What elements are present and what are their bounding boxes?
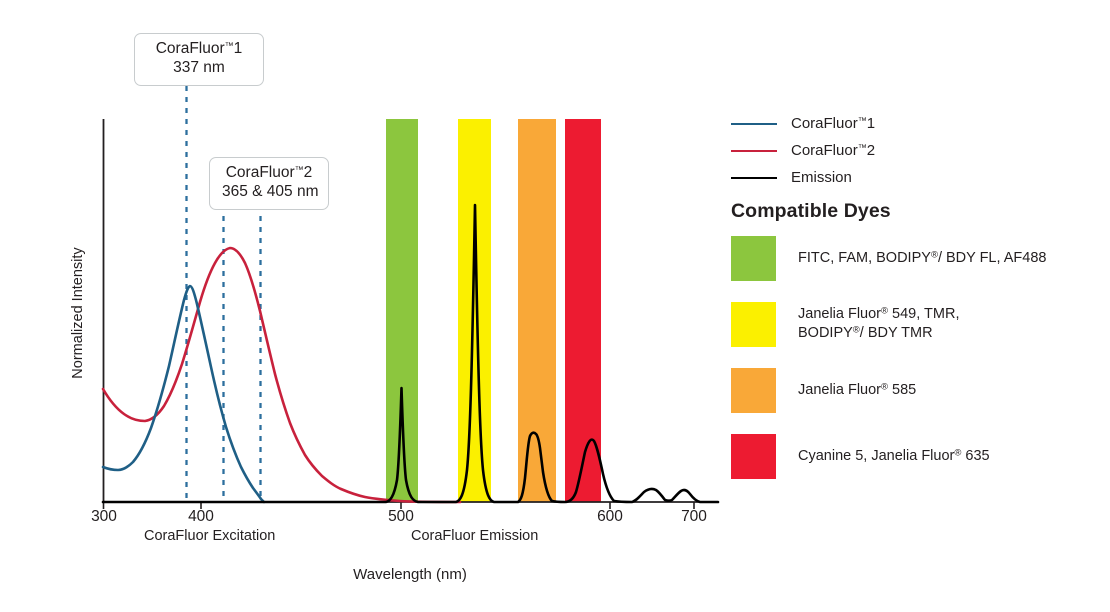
legend-label-emission: Emission: [791, 169, 852, 186]
x-tick-label-600: 600: [580, 508, 640, 526]
callout-2-line2: 365 & 405 nm: [222, 183, 316, 202]
legend-label-corafluor2: CoraFluor™2: [791, 142, 875, 159]
dye-band-yellow: [458, 119, 491, 502]
dye-color-swatch-yellow: [731, 302, 776, 347]
trademark-symbol: ™: [225, 40, 234, 50]
registered-symbol: ®: [853, 325, 860, 336]
dye-label-green: FITC, FAM, BODIPY®/ BDY FL, AF488: [798, 249, 1046, 268]
annotation-markers: [187, 86, 261, 502]
callout-1-line1: CoraFluor™1: [147, 40, 251, 59]
annotation-callout-corafluor2: CoraFluor™2 365 & 405 nm: [209, 157, 329, 210]
dye-label-yellow: Janelia Fluor® 549, TMR, BODIPY®/ BDY TM…: [798, 305, 959, 342]
x-tick-label-300: 300: [74, 508, 134, 526]
legend-line-swatch-corafluor1: [731, 123, 777, 125]
fluorescence-spectra-figure: CoraFluor™1 337 nm CoraFluor™2 365 & 405…: [0, 0, 1110, 612]
legend-line-swatch-emission: [731, 177, 777, 179]
dye-item-red: Cyanine 5, Janelia Fluor® 635: [731, 431, 1101, 481]
x-tick-label-700: 700: [664, 508, 724, 526]
x-tick-label-500: 500: [371, 508, 431, 526]
chart-legend: CoraFluor™1 CoraFluor™2 Emission: [731, 110, 1091, 191]
dye-band-green: [386, 119, 418, 502]
dye-label-orange: Janelia Fluor® 585: [798, 381, 916, 400]
dye-item-orange: Janelia Fluor® 585: [731, 365, 1101, 415]
dye-label-red: Cyanine 5, Janelia Fluor® 635: [798, 447, 990, 466]
compatible-dyes-list: FITC, FAM, BODIPY®/ BDY FL, AF488 Janeli…: [731, 233, 1101, 497]
dye-color-swatch-orange: [731, 368, 776, 413]
compatible-dyes-title: Compatible Dyes: [731, 200, 891, 223]
x-axis-title: Wavelength (nm): [0, 566, 820, 583]
x-tick-label-400: 400: [171, 508, 231, 526]
dye-item-yellow: Janelia Fluor® 549, TMR, BODIPY®/ BDY TM…: [731, 299, 1101, 349]
registered-symbol: ®: [931, 249, 938, 260]
dye-color-swatch-red: [731, 434, 776, 479]
callout-2-line1: CoraFluor™2: [222, 164, 316, 183]
dye-band-group: [386, 119, 601, 502]
region-label-emission: CoraFluor Emission: [411, 528, 538, 544]
y-axis-title: Normalized Intensity: [70, 213, 86, 413]
dye-item-green: FITC, FAM, BODIPY®/ BDY FL, AF488: [731, 233, 1101, 283]
legend-label-corafluor1: CoraFluor™1: [791, 115, 875, 132]
legend-item-corafluor1: CoraFluor™1: [731, 110, 1091, 137]
callout-1-line2: 337 nm: [147, 59, 251, 78]
region-label-excitation: CoraFluor Excitation: [144, 528, 275, 544]
registered-symbol: ®: [881, 381, 888, 392]
curve-corafluor1-excitation: [103, 286, 264, 502]
legend-line-swatch-corafluor2: [731, 150, 777, 152]
trademark-symbol: ™: [858, 115, 867, 125]
legend-item-corafluor2: CoraFluor™2: [731, 137, 1091, 164]
trademark-symbol: ™: [858, 142, 867, 152]
dye-color-swatch-green: [731, 236, 776, 281]
registered-symbol: ®: [881, 306, 888, 317]
trademark-symbol: ™: [295, 164, 304, 174]
annotation-callout-corafluor1: CoraFluor™1 337 nm: [134, 33, 264, 86]
legend-item-emission: Emission: [731, 164, 1091, 191]
dye-band-orange: [518, 119, 556, 502]
